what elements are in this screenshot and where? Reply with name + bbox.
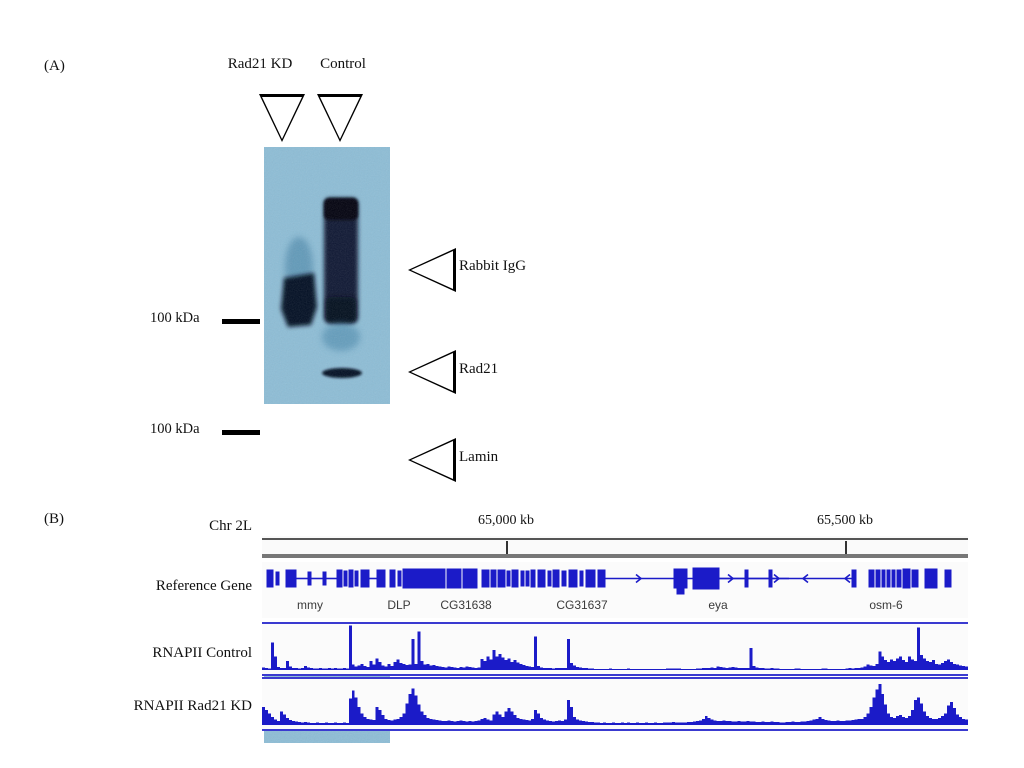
marker-bar-upper-icon	[222, 319, 260, 324]
track-rnapii-rad21-kd[interactable]	[262, 677, 968, 731]
annotation-label-rabbit-igg: Rabbit IgG	[459, 258, 526, 275]
ruler-tickmark-65500-icon	[845, 541, 847, 554]
track-label-rnapii-control: RNAPII Control	[92, 645, 252, 662]
lane-pointer-rad21-kd-icon	[259, 94, 305, 142]
gene-label-eya: eya	[682, 598, 754, 612]
track-rnapii-control[interactable]	[262, 622, 968, 676]
lane-pointer-control-icon	[317, 94, 363, 142]
ruler-tick-label-65500: 65,500 kb	[785, 513, 905, 529]
blot-bands-svg	[264, 147, 390, 404]
ruler-line-upper	[262, 538, 968, 540]
annotation-pointer-rad21-icon	[408, 350, 456, 394]
ruler-line-lower	[262, 554, 968, 558]
signal-plot-rad21-kd	[262, 679, 968, 725]
panel-a-letter: (A)	[44, 58, 65, 75]
gene-label-cg31638: CG31638	[424, 598, 508, 612]
signal-plot-control	[262, 624, 968, 670]
annotation-pointer-lamin-icon	[408, 438, 456, 482]
annotation-label-rad21: Rad21	[459, 361, 498, 378]
track-label-rnapii-rad21-kd: RNAPII Rad21 KD	[72, 698, 252, 715]
ruler-tickmark-65000-icon	[506, 541, 508, 554]
marker-label-upper: 100 kDa	[150, 310, 200, 327]
gene-label-cg31637: CG31637	[540, 598, 624, 612]
marker-bar-lower-icon	[222, 430, 260, 435]
marker-label-lower: 100 kDa	[150, 421, 200, 438]
lane-label-control: Control	[298, 56, 388, 73]
ruler-tick-label-65000: 65,000 kb	[446, 513, 566, 529]
track-label-reference-gene: Reference Gene	[100, 578, 252, 595]
panel-b-letter: (B)	[44, 511, 64, 528]
annotation-label-lamin: Lamin	[459, 449, 498, 466]
gene-label-osm-6: osm-6	[850, 598, 922, 612]
annotation-pointer-rabbit-igg-icon	[408, 248, 456, 292]
western-blot-rad21-image	[264, 147, 390, 404]
gene-label-mmy: mmy	[274, 598, 346, 612]
chromosome-label: Chr 2L	[100, 518, 252, 535]
